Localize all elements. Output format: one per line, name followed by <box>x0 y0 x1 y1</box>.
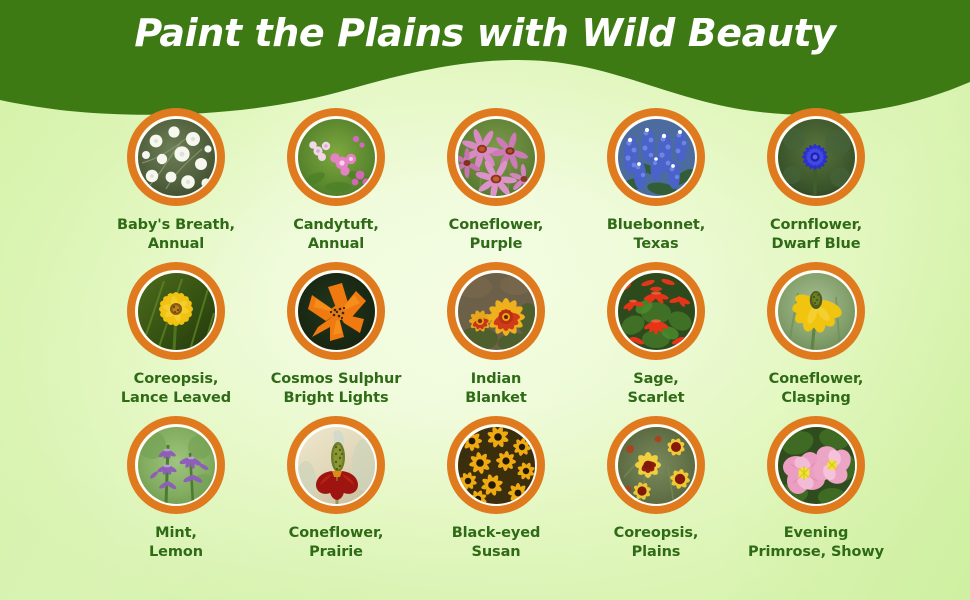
flower-inner-ring <box>615 424 697 506</box>
caption-line-1: Candytuft, <box>293 216 379 235</box>
flower-card-candytuft[interactable]: Candytuft, Annual <box>256 108 416 262</box>
flower-card-lance-leaved-coreopsis[interactable]: Coreopsis, Lance Leaved <box>96 262 256 416</box>
prairie-coneflower-photo <box>298 427 375 504</box>
flower-card-lemon-mint[interactable]: Mint, Lemon <box>96 416 256 566</box>
caption-line-1: Coneflower, <box>449 216 544 235</box>
flower-inner-ring <box>615 270 697 352</box>
lance-leaved-coreopsis-photo <box>138 273 215 350</box>
flower-ring <box>127 108 225 206</box>
flower-card-cosmos-sulphur[interactable]: Cosmos Sulphur Bright Lights <box>256 262 416 416</box>
flower-ring <box>767 108 865 206</box>
flower-inner-ring <box>455 270 537 352</box>
caption-line-2: Lance Leaved <box>121 389 231 408</box>
caption-line-1: Indian <box>465 370 526 389</box>
flower-card-babys-breath[interactable]: Baby's Breath, Annual <box>96 108 256 262</box>
flower-inner-ring <box>295 424 377 506</box>
caption-line-2: Annual <box>117 235 235 254</box>
flower-caption: Cosmos Sulphur Bright Lights <box>271 370 402 408</box>
black-eyed-susan-photo <box>458 427 535 504</box>
flower-caption: Coneflower, Prairie <box>289 524 384 562</box>
flower-caption: Baby's Breath, Annual <box>117 216 235 254</box>
flower-caption: Bluebonnet, Texas <box>607 216 705 254</box>
caption-line-1: Baby's Breath, <box>117 216 235 235</box>
purple-coneflower-photo <box>458 119 535 196</box>
caption-line-2: Prairie <box>289 543 384 562</box>
flower-card-black-eyed-susan[interactable]: Black-eyed Susan <box>416 416 576 566</box>
flower-ring <box>287 108 385 206</box>
flower-inner-ring <box>775 424 857 506</box>
flower-ring <box>607 108 705 206</box>
caption-line-1: Black-eyed <box>452 524 541 543</box>
header-band: Paint the Plains with Wild Beauty <box>0 0 970 122</box>
flower-ring <box>127 416 225 514</box>
flower-caption: Sage, Scarlet <box>627 370 684 408</box>
caption-line-1: Coreopsis, <box>121 370 231 389</box>
caption-line-1: Cornflower, <box>770 216 862 235</box>
caption-line-2: Purple <box>449 235 544 254</box>
caption-line-1: Bluebonnet, <box>607 216 705 235</box>
flower-ring <box>287 416 385 514</box>
indian-blanket-photo <box>458 273 535 350</box>
flower-inner-ring <box>295 116 377 198</box>
caption-line-2: Primrose, Showy <box>748 543 884 562</box>
scarlet-sage-photo <box>618 273 695 350</box>
grid-row: Mint, Lemon <box>96 416 896 566</box>
flower-caption: Candytuft, Annual <box>293 216 379 254</box>
flower-card-scarlet-sage[interactable]: Sage, Scarlet <box>576 262 736 416</box>
flower-inner-ring <box>295 270 377 352</box>
caption-line-2: Bright Lights <box>271 389 402 408</box>
flower-ring <box>287 262 385 360</box>
flower-card-showy-evening-primrose[interactable]: Evening Primrose, Showy <box>736 416 896 566</box>
flower-grid: Baby's Breath, Annual <box>96 108 896 566</box>
flower-caption: Coneflower, Purple <box>449 216 544 254</box>
grid-row: Baby's Breath, Annual <box>96 108 896 262</box>
caption-line-2: Susan <box>452 543 541 562</box>
showy-evening-primrose-photo <box>778 427 855 504</box>
flower-caption: Coreopsis, Lance Leaved <box>121 370 231 408</box>
flower-inner-ring <box>455 116 537 198</box>
flower-inner-ring <box>135 116 217 198</box>
flower-inner-ring <box>455 424 537 506</box>
flower-card-dwarf-blue-cornflower[interactable]: Cornflower, Dwarf Blue <box>736 108 896 262</box>
flower-caption: Coneflower, Clasping <box>769 370 864 408</box>
flower-card-indian-blanket[interactable]: Indian Blanket <box>416 262 576 416</box>
caption-line-2: Texas <box>607 235 705 254</box>
caption-line-2: Scarlet <box>627 389 684 408</box>
caption-line-2: Clasping <box>769 389 864 408</box>
flower-inner-ring <box>775 270 857 352</box>
flower-ring <box>447 416 545 514</box>
caption-line-1: Sage, <box>627 370 684 389</box>
caption-line-1: Evening <box>748 524 884 543</box>
flower-caption: Indian Blanket <box>465 370 526 408</box>
caption-line-1: Mint, <box>149 524 203 543</box>
flower-card-prairie-coneflower[interactable]: Coneflower, Prairie <box>256 416 416 566</box>
flower-caption: Black-eyed Susan <box>452 524 541 562</box>
plains-coreopsis-photo <box>618 427 695 504</box>
flower-inner-ring <box>775 116 857 198</box>
page-title: Paint the Plains with Wild Beauty <box>0 11 970 55</box>
flower-card-plains-coreopsis[interactable]: Coreopsis, Plains <box>576 416 736 566</box>
caption-line-1: Cosmos Sulphur <box>271 370 402 389</box>
caption-line-1: Coreopsis, <box>614 524 699 543</box>
flower-ring <box>607 416 705 514</box>
cosmos-sulphur-photo <box>298 273 375 350</box>
caption-line-1: Coneflower, <box>769 370 864 389</box>
candytuft-photo <box>298 119 375 196</box>
flower-inner-ring <box>135 270 217 352</box>
caption-line-1: Coneflower, <box>289 524 384 543</box>
flower-ring <box>767 262 865 360</box>
caption-line-2: Annual <box>293 235 379 254</box>
caption-line-2: Blanket <box>465 389 526 408</box>
flower-ring <box>447 108 545 206</box>
texas-bluebonnet-photo <box>618 119 695 196</box>
dwarf-blue-cornflower-photo <box>778 119 855 196</box>
grid-row: Coreopsis, Lance Leaved <box>96 262 896 416</box>
caption-line-2: Dwarf Blue <box>770 235 862 254</box>
flower-inner-ring <box>135 424 217 506</box>
flower-card-clasping-coneflower[interactable]: Coneflower, Clasping <box>736 262 896 416</box>
clasping-coneflower-photo <box>778 273 855 350</box>
flower-ring <box>607 262 705 360</box>
flower-caption: Mint, Lemon <box>149 524 203 562</box>
poster-canvas: Paint the Plains with Wild Beauty <box>0 0 970 600</box>
flower-caption: Coreopsis, Plains <box>614 524 699 562</box>
caption-line-2: Plains <box>614 543 699 562</box>
flower-card-texas-bluebonnet[interactable]: Bluebonnet, Texas <box>576 108 736 262</box>
flower-ring <box>447 262 545 360</box>
flower-caption: Evening Primrose, Showy <box>748 524 884 562</box>
flower-inner-ring <box>615 116 697 198</box>
caption-line-2: Lemon <box>149 543 203 562</box>
flower-card-purple-coneflower[interactable]: Coneflower, Purple <box>416 108 576 262</box>
flower-ring <box>767 416 865 514</box>
babys-breath-photo <box>138 119 215 196</box>
flower-ring <box>127 262 225 360</box>
lemon-mint-photo <box>138 427 215 504</box>
flower-caption: Cornflower, Dwarf Blue <box>770 216 862 254</box>
